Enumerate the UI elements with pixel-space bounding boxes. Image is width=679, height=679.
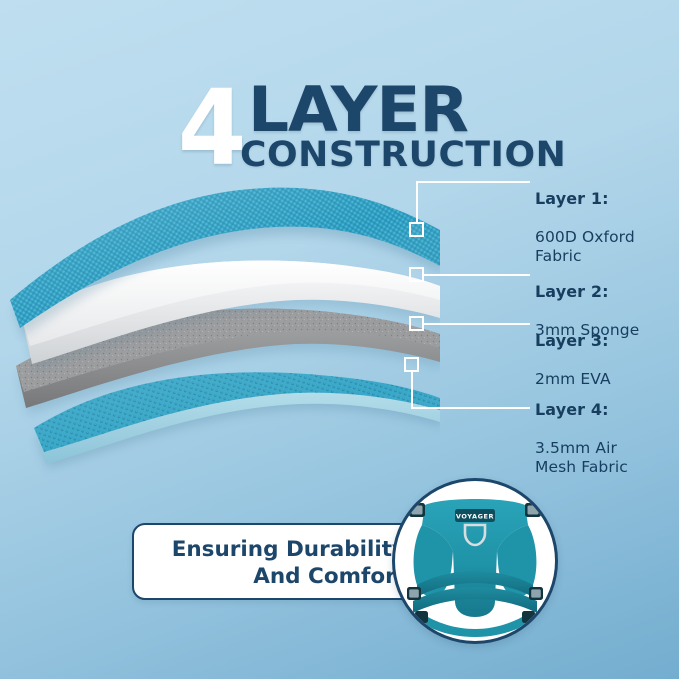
layer-1-title: Layer 1: <box>535 189 635 209</box>
layer-4-description: 3.5mm Air Mesh Fabric <box>535 439 628 478</box>
layer-3-title: Layer 3: <box>535 331 611 351</box>
callout-leader-layer-1-vertical <box>416 181 418 223</box>
buckle-belly-right <box>522 611 535 623</box>
callout-marker-layer-4 <box>404 357 419 372</box>
title-block: 4 LAYER CONSTRUCTION <box>0 38 679 148</box>
layer-2-title: Layer 2: <box>535 282 639 302</box>
callout-leader-layer-1-horizontal <box>416 181 530 183</box>
tagline-box: Ensuring Durability And Comfort <box>132 523 420 600</box>
product-image-circle: VOYAGER <box>392 478 558 644</box>
layer-stack-illustration <box>0 160 440 490</box>
title-word-layer: LAYER <box>248 79 468 141</box>
callout-marker-layer-3 <box>409 316 424 331</box>
layer-4-label: Layer 4: 3.5mm Air Mesh Fabric <box>535 380 628 497</box>
callout-leader-layer-4-horizontal <box>411 407 530 409</box>
layer-1-description: 600D Oxford Fabric <box>535 228 635 267</box>
layer-4-title: Layer 4: <box>535 400 628 420</box>
brand-label-text: VOYAGER <box>456 513 494 521</box>
buckle-belly-left <box>415 611 428 623</box>
infographic-page: 4 LAYER CONSTRUCTION <box>0 0 679 679</box>
callout-leader-layer-2 <box>424 274 530 276</box>
callout-marker-layer-1 <box>409 222 424 237</box>
callout-marker-layer-2 <box>409 267 424 282</box>
callout-leader-layer-4-vertical <box>411 372 413 409</box>
dog-harness-illustration: VOYAGER <box>395 481 555 641</box>
callout-leader-layer-3 <box>424 323 530 325</box>
tagline-text: Ensuring Durability And Comfort <box>134 536 406 590</box>
